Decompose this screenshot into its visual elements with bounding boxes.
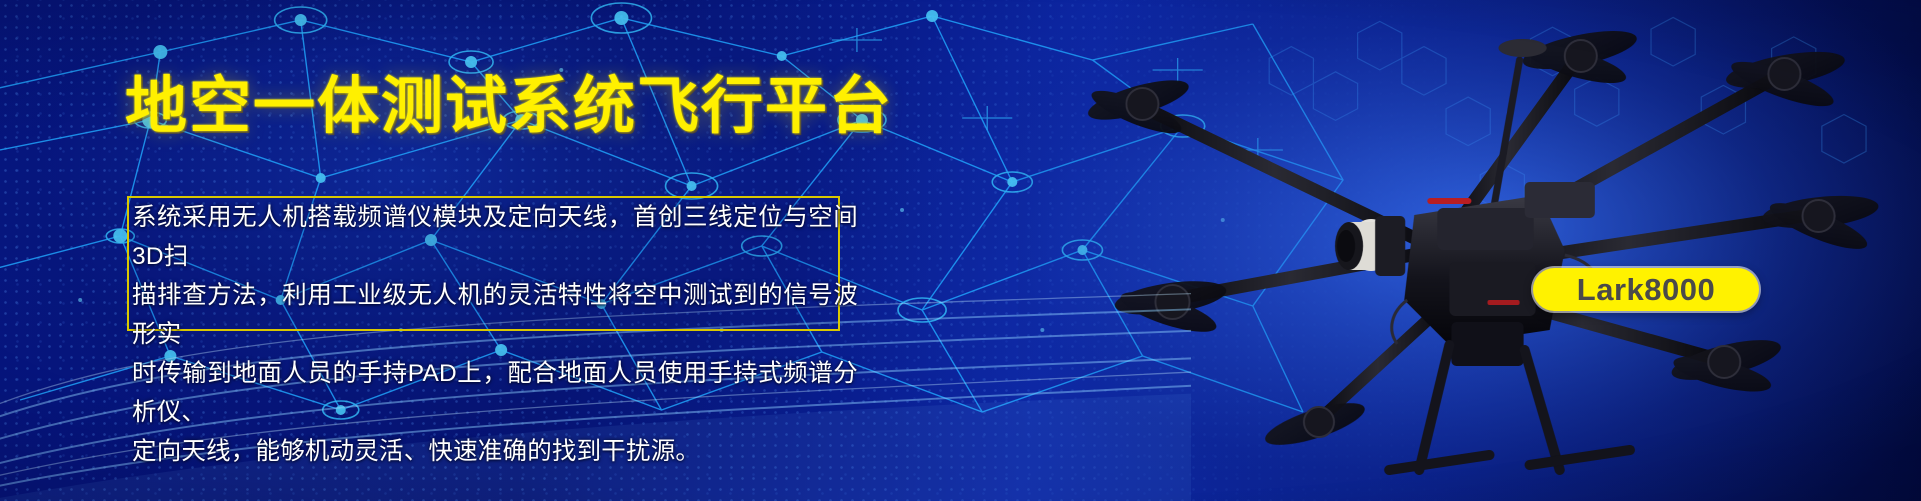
description-line-1: 系统采用无人机搭载频谱仪模块及定向天线，首创三线定位与空间3D扫 (132, 198, 858, 276)
description-line-2: 描排查方法，利用工业级无人机的灵活特性将空中测试到的信号波形实 (132, 276, 858, 354)
description-text: 系统采用无人机搭载频谱仪模块及定向天线，首创三线定位与空间3D扫 描排查方法，利… (132, 198, 858, 471)
product-banner: 地空一体测试系统飞行平台 系统采用无人机搭载频谱仪模块及定向天线，首创三线定位与… (0, 0, 1921, 501)
description-line-3: 时传输到地面人员的手持PAD上，配合地面人员使用手持式频谱分析仪、 (132, 354, 858, 432)
product-name-badge: Lark8000 (1533, 268, 1759, 311)
page-title: 地空一体测试系统飞行平台 (125, 76, 893, 138)
product-name-badge-label: Lark8000 (1577, 274, 1715, 305)
description-line-4: 定向天线，能够机动灵活、快速准确的找到干扰源。 (132, 432, 858, 471)
banner-content: 地空一体测试系统飞行平台 系统采用无人机搭载频谱仪模块及定向天线，首创三线定位与… (0, 0, 1921, 501)
